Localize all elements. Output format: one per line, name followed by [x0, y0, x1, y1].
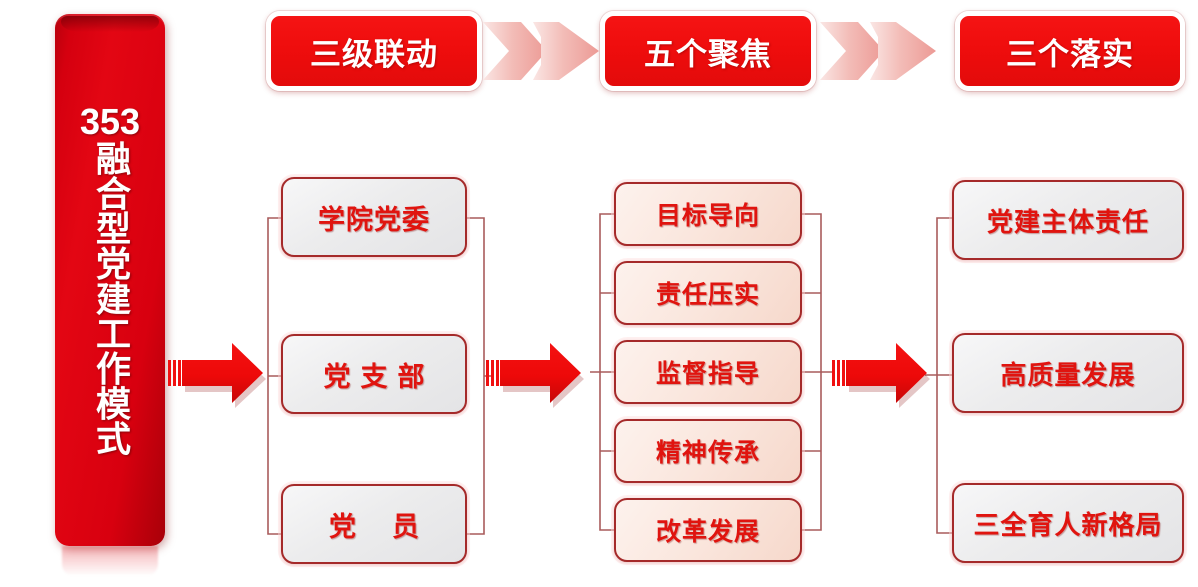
banner-label: 三个落实	[1006, 29, 1134, 74]
diagram-canvas: 353融合型党建工作模式 三级联动 五个聚焦 三个落实	[0, 0, 1198, 587]
banner-label: 三级联动	[310, 29, 438, 74]
right-arrow-icon	[484, 338, 584, 408]
node-gaigefazhan[interactable]: 改革发展	[614, 498, 802, 562]
right-arrow-icon	[166, 338, 266, 408]
node-label: 高质量发展	[1000, 355, 1135, 392]
node-label: 监督指导	[656, 354, 760, 390]
node-label: 责任压实	[656, 275, 760, 311]
node-label: 党建主体责任	[987, 202, 1149, 239]
node-label: 目标导向	[656, 196, 760, 232]
node-dangyuan[interactable]: 党员	[281, 484, 467, 564]
node-label: 精神传承	[656, 433, 760, 469]
banner-sangeluoshi[interactable]: 三个落实	[955, 11, 1185, 91]
double-chevron-right-icon	[818, 18, 938, 84]
vertical-title-number: 353	[80, 104, 140, 141]
banner-label: 五个聚焦	[644, 29, 772, 74]
banner-wugejujiao[interactable]: 五个聚焦	[600, 11, 816, 91]
node-dangjianzhutizeren[interactable]: 党建主体责任	[952, 180, 1184, 260]
vertical-title-text: 353融合型党建工作模式	[80, 45, 140, 515]
bracket-column2-right	[797, 190, 833, 560]
vertical-title-bar: 353融合型党建工作模式	[55, 14, 165, 546]
double-chevron-right-icon	[481, 18, 601, 84]
node-xueyuandangwei[interactable]: 学院党委	[281, 177, 467, 257]
vertical-title-chars: 融合型党建工作模式	[91, 141, 130, 456]
node-zerenyashi[interactable]: 责任压实	[614, 261, 802, 325]
banner-sanjilliandong[interactable]: 三级联动	[266, 11, 482, 91]
node-label: 党支部	[314, 355, 435, 394]
node-label: 改革发展	[656, 512, 760, 548]
node-label: 党员	[293, 505, 455, 544]
node-label: 学院党委	[318, 198, 430, 237]
node-dangzhibu[interactable]: 党支部	[281, 334, 467, 414]
node-jingshenchuancheng[interactable]: 精神传承	[614, 419, 802, 483]
node-sanquanyurenxingeju[interactable]: 三全育人新格局	[952, 483, 1184, 563]
node-mubiaodaoxiang[interactable]: 目标导向	[614, 182, 802, 246]
node-label: 三全育人新格局	[973, 505, 1162, 542]
node-gaozhiliangfazhan[interactable]: 高质量发展	[952, 333, 1184, 413]
right-arrow-icon	[830, 338, 930, 408]
node-jiandu-zhidao[interactable]: 监督指导	[614, 340, 802, 404]
